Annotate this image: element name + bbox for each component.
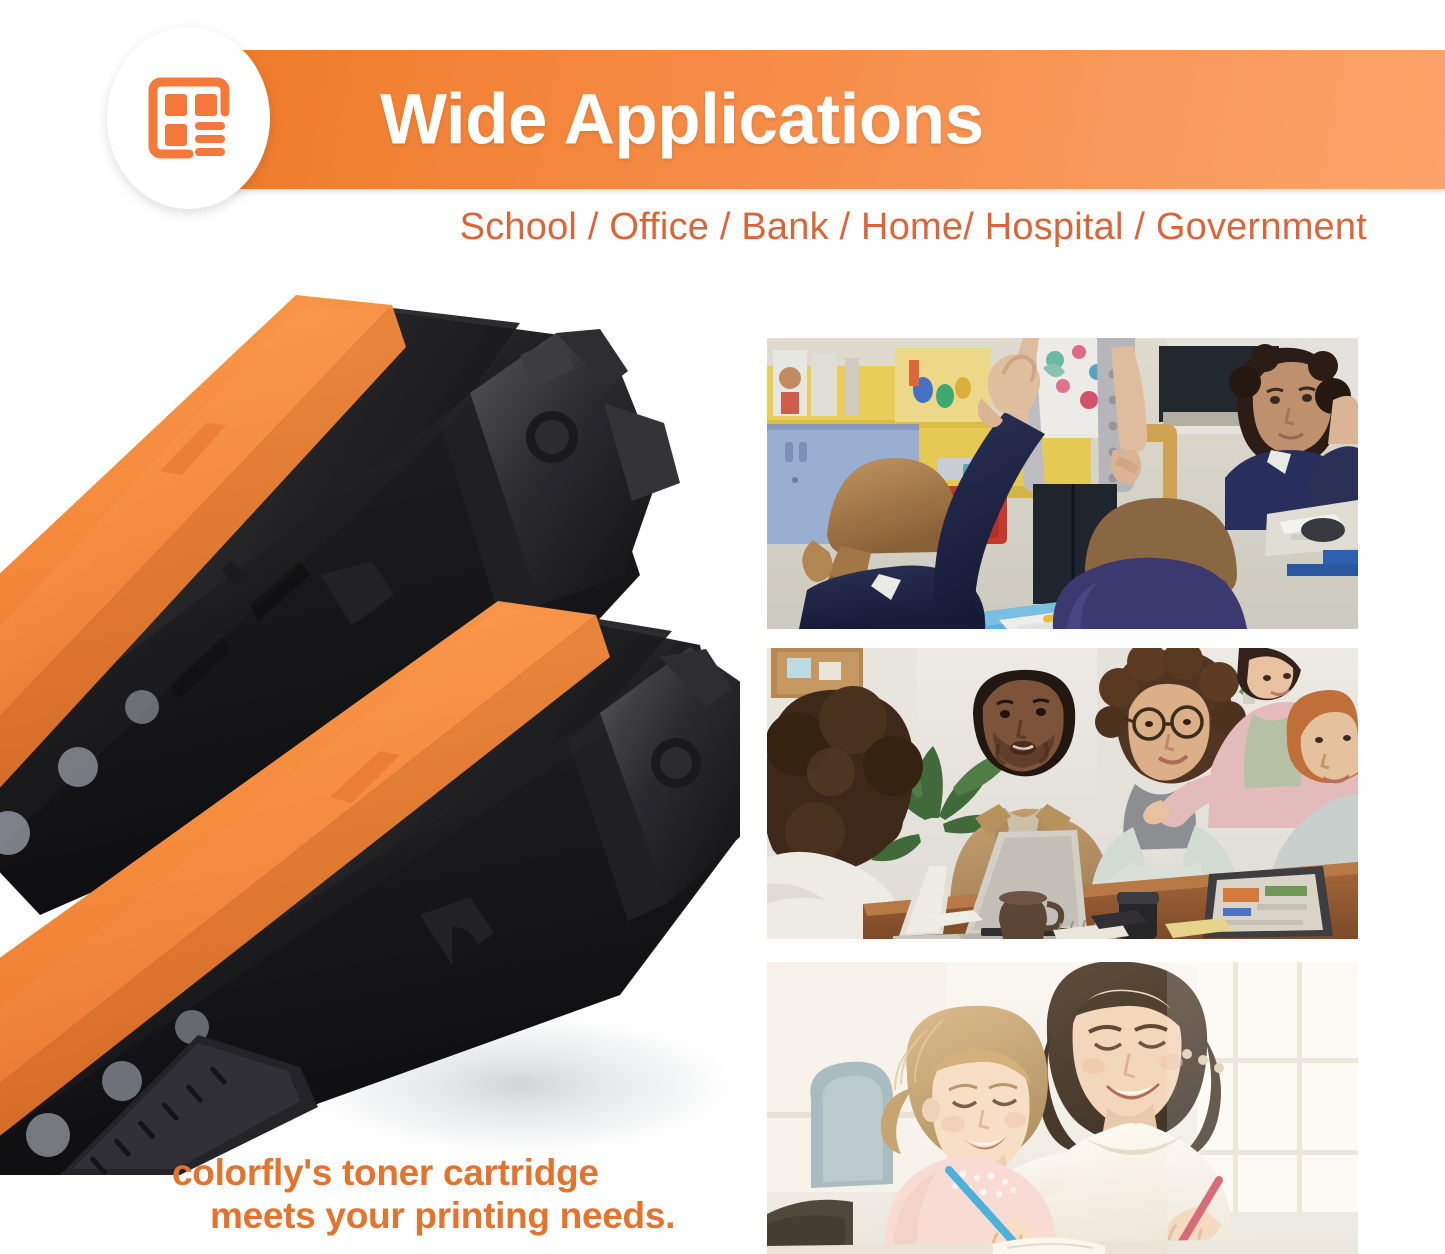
photo-home-study-image: [767, 962, 1358, 1254]
applications-subtitle: School / Office / Bank / Home/ Hospital …: [460, 206, 1367, 249]
tagline: colorfly's toner cartridge meets your pr…: [172, 1152, 732, 1238]
layout-grid-icon-badge: [107, 27, 270, 209]
tagline-line-1: colorfly's toner cartridge: [172, 1152, 599, 1193]
page-title: Wide Applications: [380, 79, 984, 160]
toner-cartridge-illustration: [0, 275, 740, 1175]
photo-office-meeting: [767, 648, 1358, 939]
photo-office-meeting-image: [767, 648, 1358, 939]
header-banner: Wide Applications: [180, 50, 1445, 189]
photo-classroom: [767, 338, 1358, 629]
product-image-toner-cartridges: [0, 275, 740, 1175]
application-photo-gallery: [767, 338, 1358, 1254]
photo-classroom-image: [767, 338, 1358, 629]
tagline-line-2: meets your printing needs.: [210, 1195, 732, 1238]
wide-applications-infographic: Wide Applications School / Office / Bank…: [0, 0, 1445, 1254]
photo-home-study: [767, 962, 1358, 1254]
header-section: Wide Applications School / Office / Bank…: [0, 0, 1445, 275]
layout-grid-icon: [137, 66, 241, 170]
